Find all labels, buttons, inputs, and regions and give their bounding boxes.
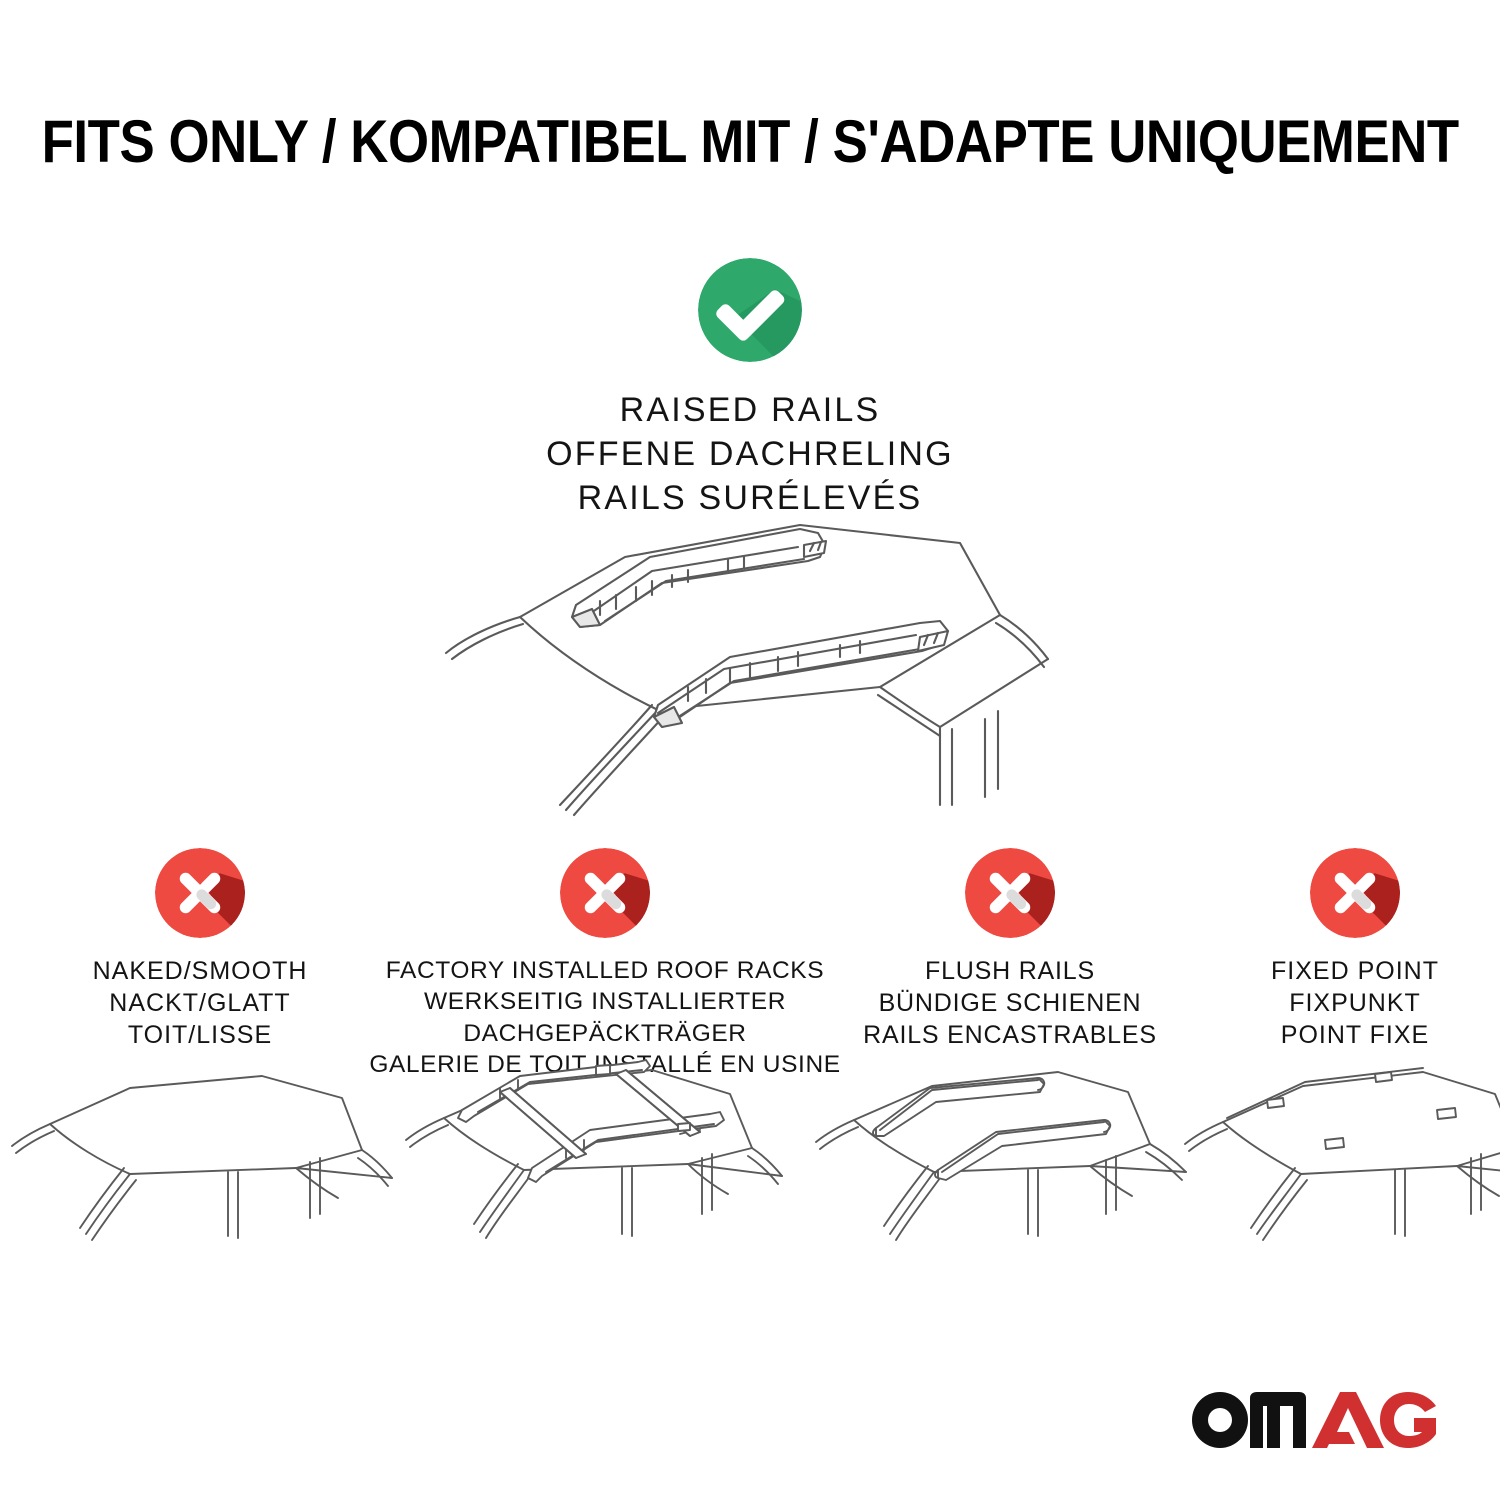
check-circle-icon: [698, 258, 802, 362]
incompatible-item-factory-racks: FACTORY INSTALLED ROOF RACKS WERKSEITIG …: [400, 848, 810, 1080]
label-line-en: FACTORY INSTALLED ROOF RACKS: [369, 955, 840, 986]
header: FITS ONLY / KOMPATIBEL MIT / S'ADAPTE UN…: [0, 96, 1500, 186]
incompatible-labels: NAKED/SMOOTH NACKT/GLATT TOIT/LISSE: [93, 955, 308, 1051]
car-roof-raised-rails-illustration: [400, 505, 1100, 835]
incompatible-item-naked: NAKED/SMOOTH NACKT/GLATT TOIT/LISSE: [0, 848, 400, 1051]
label-line-en: FLUSH RAILS: [863, 955, 1157, 987]
fitment-infographic: FITS ONLY / KOMPATIBEL MIT / S'ADAPTE UN…: [0, 0, 1500, 1500]
label-line-fr: TOIT/LISSE: [93, 1019, 308, 1051]
label-line-de: NACKT/GLATT: [93, 987, 308, 1019]
incompatible-row: NAKED/SMOOTH NACKT/GLATT TOIT/LISSE: [0, 848, 1500, 1288]
incompatible-labels: FLUSH RAILS BÜNDIGE SCHIENEN RAILS ENCAS…: [863, 955, 1157, 1051]
incompatible-labels: FIXED POINT FIXPUNKT POINT FIXE: [1271, 955, 1439, 1051]
label-line-fr: POINT FIXE: [1271, 1019, 1439, 1051]
car-roof-flush-rails-illustration: [810, 1058, 1210, 1288]
incompatible-item-fixed-point: FIXED POINT FIXPUNKT POINT FIXE: [1210, 848, 1500, 1051]
car-roof-naked-illustration: [10, 1058, 410, 1288]
label-line-fr: RAILS ENCASTRABLES: [863, 1019, 1157, 1051]
incompatible-item-flush-rails: FLUSH RAILS BÜNDIGE SCHIENEN RAILS ENCAS…: [810, 848, 1210, 1051]
label-line-de: FIXPUNKT: [1271, 987, 1439, 1019]
label-line-de-1: WERKSEITIG INSTALLIERTER: [369, 986, 840, 1017]
car-roof-fixed-point-illustration: [1165, 1058, 1500, 1288]
cross-circle-icon: [560, 848, 650, 938]
compatible-label-en: RAISED RAILS: [546, 388, 954, 432]
cross-circle-icon: [965, 848, 1055, 938]
compatible-block: RAISED RAILS OFFENE DACHRELING RAILS SUR…: [0, 258, 1500, 521]
cross-circle-icon: [155, 848, 245, 938]
omac-logo: [1190, 1390, 1438, 1448]
cross-circle-icon: [1310, 848, 1400, 938]
label-line-en: NAKED/SMOOTH: [93, 955, 308, 987]
label-line-de: BÜNDIGE SCHIENEN: [863, 987, 1157, 1019]
compatible-label-de: OFFENE DACHRELING: [546, 432, 954, 476]
label-line-de-2: DACHGEPÄCKTRÄGER: [369, 1018, 840, 1049]
compatible-labels: RAISED RAILS OFFENE DACHRELING RAILS SUR…: [546, 388, 954, 521]
label-line-en: FIXED POINT: [1271, 955, 1439, 987]
page-title: FITS ONLY / KOMPATIBEL MIT / S'ADAPTE UN…: [41, 107, 1458, 176]
car-roof-factory-racks-illustration: [400, 1058, 800, 1288]
